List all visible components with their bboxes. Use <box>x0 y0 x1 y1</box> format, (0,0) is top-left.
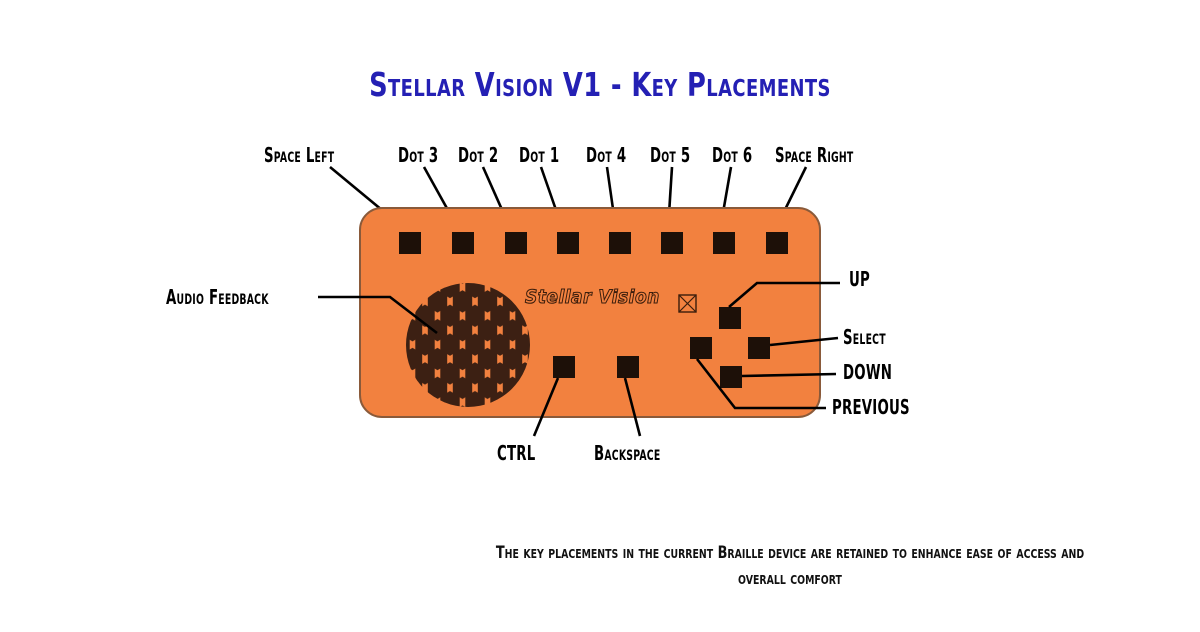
key-previous[interactable] <box>690 337 712 359</box>
label-up: UP <box>849 269 870 289</box>
device-brand-wordmark: Stellar Vision <box>525 286 660 308</box>
key-up[interactable] <box>719 307 741 329</box>
label-audio-feedback: Audio Feedback <box>166 287 269 307</box>
key-ctrl[interactable] <box>553 356 575 378</box>
key-dot-1[interactable] <box>557 232 579 254</box>
key-space-right[interactable] <box>766 232 788 254</box>
label-previous: PREVIOUS <box>832 397 910 417</box>
label-dot-3: Dot 3 <box>398 145 438 165</box>
key-backspace[interactable] <box>617 356 639 378</box>
label-dot-2: Dot 2 <box>458 145 498 165</box>
label-down: DOWN <box>843 362 892 382</box>
figure-caption-text: The key placements in the current Braill… <box>486 540 1094 591</box>
device-illustration <box>0 0 1200 632</box>
key-space-left[interactable] <box>399 232 421 254</box>
label-space-left: Space Left <box>264 145 334 165</box>
key-dot-5[interactable] <box>661 232 683 254</box>
key-select[interactable] <box>748 337 770 359</box>
key-dot-4[interactable] <box>609 232 631 254</box>
label-backspace: Backspace <box>594 443 660 463</box>
label-dot-5: Dot 5 <box>650 145 690 165</box>
diagram-canvas: Stellar Vision V1 - Key Placements <box>0 0 1200 632</box>
label-dot-1: Dot 1 <box>519 145 559 165</box>
figure-caption: The key placements in the current Braill… <box>400 540 1180 591</box>
key-dot-3[interactable] <box>452 232 474 254</box>
label-select: Select <box>843 327 886 347</box>
key-dot-2[interactable] <box>505 232 527 254</box>
label-space-right: Space Right <box>775 145 853 165</box>
key-down[interactable] <box>720 366 742 388</box>
label-ctrl: CTRL <box>497 443 535 463</box>
label-dot-6: Dot 6 <box>712 145 752 165</box>
key-dot-6[interactable] <box>713 232 735 254</box>
label-dot-4: Dot 4 <box>586 145 626 165</box>
